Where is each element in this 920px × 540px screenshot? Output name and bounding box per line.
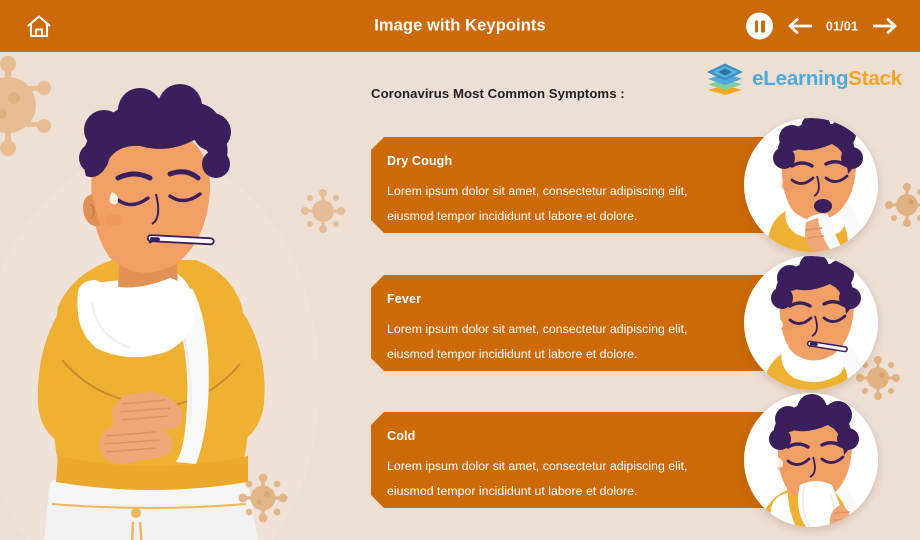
virus-decoration-icon (884, 182, 920, 228)
brand-logo: eLearningStack (705, 62, 902, 96)
playback-controls: 01/01 (746, 13, 898, 40)
keypoint-card[interactable]: Dry Cough Lorem ipsum dolor sit amet, co… (371, 137, 821, 233)
section-heading: Coronavirus Most Common Symptoms : (371, 86, 625, 101)
top-toolbar: Image with Keypoints 01/01 (0, 0, 920, 52)
virus-decoration-icon (0, 50, 58, 160)
keypoint-title: Cold (387, 429, 725, 443)
man-sneezing-tissue-avatar (744, 393, 878, 527)
layers-stack-icon (705, 62, 745, 96)
logo-text: eLearningStack (752, 67, 902, 91)
arrow-right-icon (873, 17, 898, 36)
man-with-thermometer-avatar (744, 256, 878, 390)
arrow-left-icon (787, 17, 812, 36)
slide-canvas: Image with Keypoints 01/01 (0, 0, 920, 540)
pause-icon (755, 20, 759, 32)
keypoint-description: Lorem ipsum dolor sit amet, consectetur … (387, 317, 725, 367)
virus-decoration-icon (237, 472, 289, 524)
pause-icon (761, 20, 765, 32)
pause-button[interactable] (746, 13, 773, 40)
keypoint-description: Lorem ipsum dolor sit amet, consectetur … (387, 454, 725, 504)
keypoint-title: Dry Cough (387, 154, 725, 168)
keypoint-card[interactable]: Cold Lorem ipsum dolor sit amet, consect… (371, 412, 821, 508)
previous-button[interactable] (786, 15, 812, 37)
logo-text-primary: eLearning (752, 67, 848, 90)
keypoint-title: Fever (387, 292, 725, 306)
man-coughing-avatar (744, 118, 878, 252)
keypoint-card[interactable]: Fever Lorem ipsum dolor sit amet, consec… (371, 275, 821, 371)
next-button[interactable] (872, 15, 898, 37)
virus-decoration-icon (300, 188, 346, 234)
logo-text-secondary: Stack (848, 67, 902, 90)
keypoint-description: Lorem ipsum dolor sit amet, consectetur … (387, 179, 725, 229)
slide-counter: 01/01 (825, 19, 859, 33)
